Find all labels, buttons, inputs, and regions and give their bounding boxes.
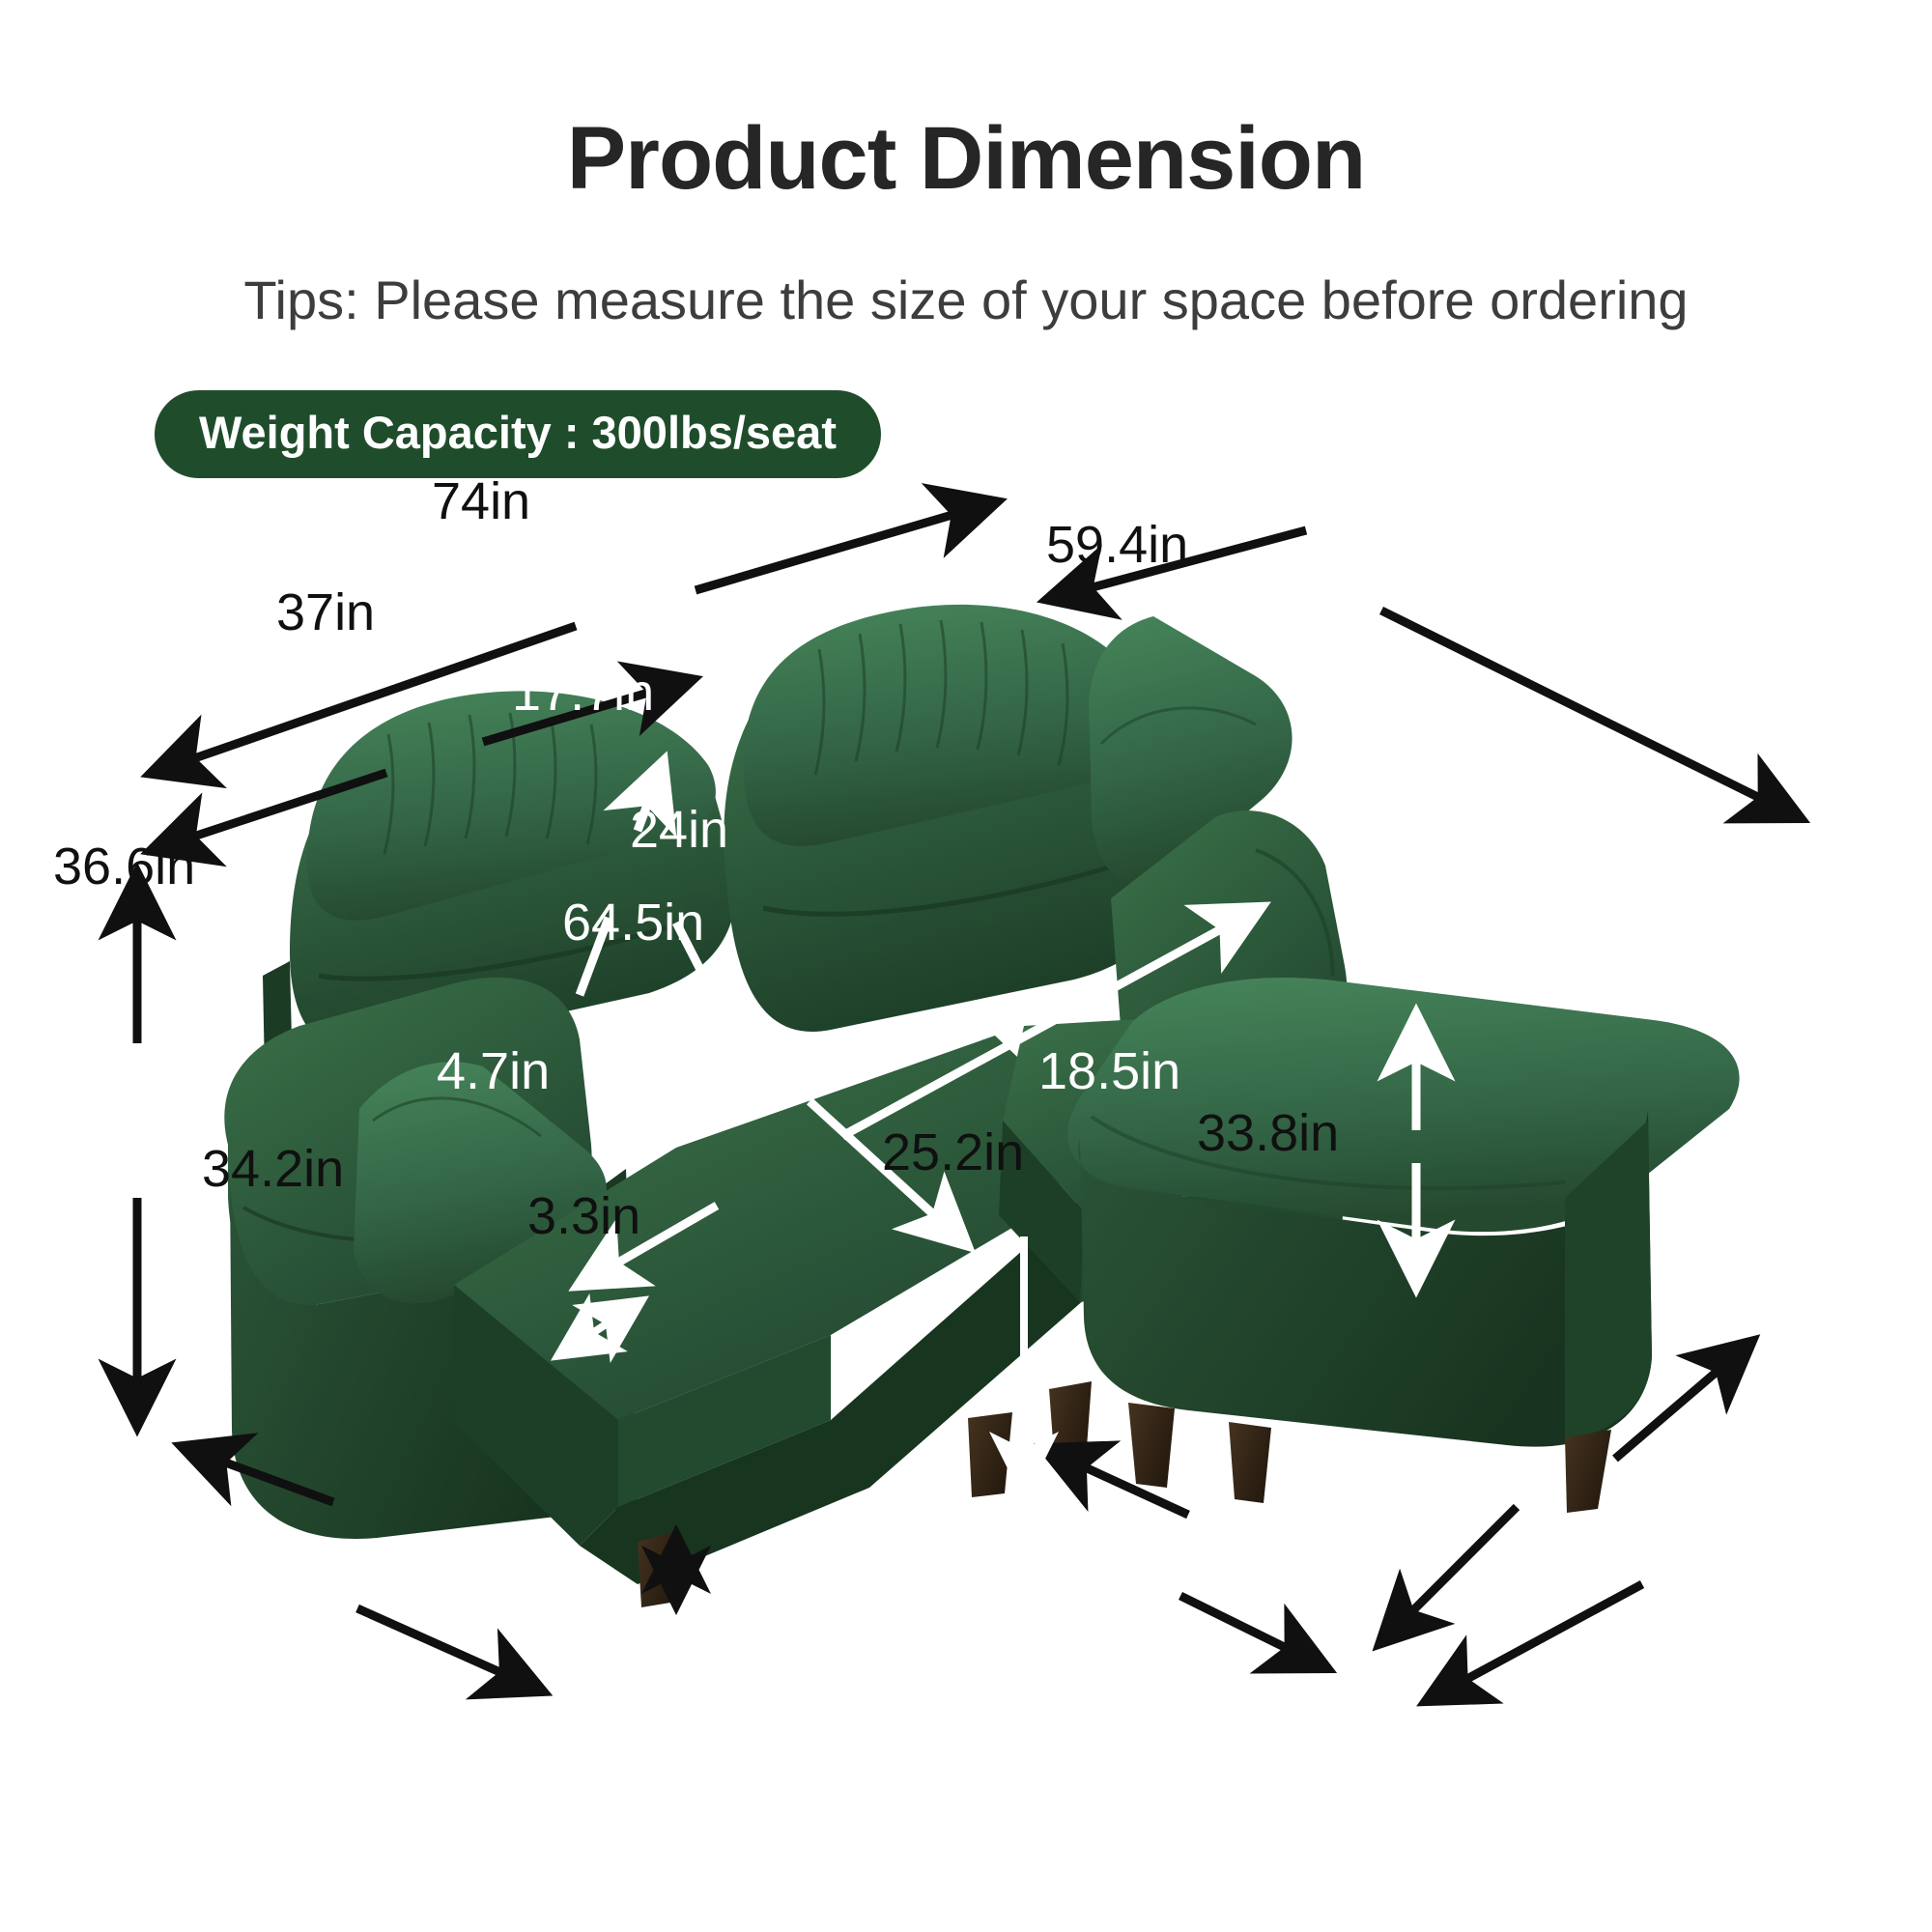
dim-label-arm-width: 4.7in: [437, 1045, 550, 1097]
sofa-illustration: [0, 0, 1932, 1932]
dim-line-594in-lower: [1381, 611, 1799, 817]
ottoman-leg-mid: [1229, 1422, 1271, 1503]
dim-line-74in-upper: [696, 502, 995, 590]
dim-line-342in-lower: [357, 1608, 541, 1690]
ottoman-leg-right: [1565, 1430, 1611, 1513]
dim-label-seating-width: 64.5in: [562, 896, 704, 949]
dim-label-seat-depth: 24in: [630, 804, 728, 856]
dim-label-ottoman-height: 18.5in: [1038, 1045, 1180, 1097]
dim-label-ottoman-depth: 25.2in: [882, 1126, 1024, 1179]
dim-line-338in-left: [1381, 1507, 1517, 1642]
dim-line-338in-base: [1428, 1584, 1642, 1700]
dim-label-sofa-depth: 34.2in: [202, 1143, 344, 1195]
dim-label-overall-height: 36.6in: [53, 840, 195, 893]
dim-label-backrest-height: 17.7in: [512, 667, 654, 719]
dim-label-overall-width: 74in: [432, 475, 530, 527]
dim-label-overall-depth: 59.4in: [1046, 519, 1188, 571]
dim-label-ottoman-width: 33.8in: [1197, 1107, 1339, 1159]
product-dimension-infographic: Product Dimension Tips: Please measure t…: [0, 0, 1932, 1932]
dim-label-sofa-seat-width: 37in: [276, 586, 375, 639]
dim-line-252in-lower: [1180, 1596, 1325, 1667]
sofa-leg-right: [968, 1412, 1012, 1497]
dim-label-leg-height: 3.3in: [527, 1190, 640, 1242]
ottoman-leg-left: [1128, 1403, 1175, 1488]
